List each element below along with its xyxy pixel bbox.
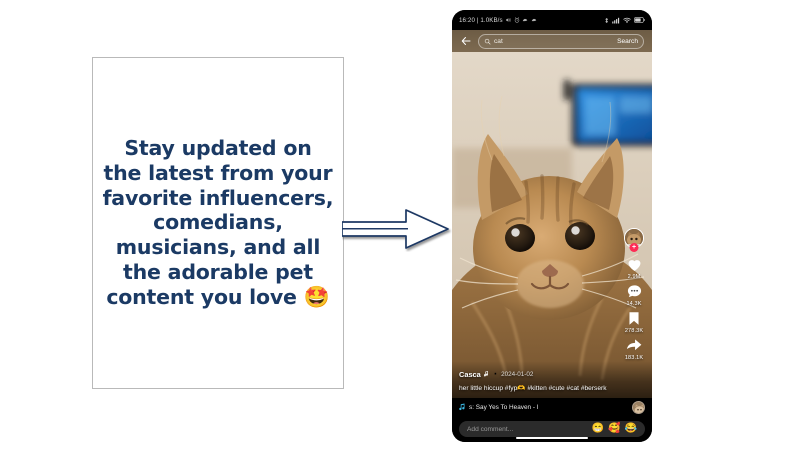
- action-rail: + 2.9M 14.3K: [619, 228, 649, 361]
- search-header: cat Search: [452, 30, 652, 52]
- music-badge-icon: [484, 370, 490, 378]
- search-query-text: cat: [494, 38, 614, 45]
- share-count: 183.1K: [625, 355, 643, 361]
- caption-separator: ·: [493, 365, 498, 383]
- like-action[interactable]: 2.9M: [626, 256, 643, 280]
- bookmark-icon[interactable]: [626, 310, 642, 327]
- status-time-and-speed: 16:20 | 1.0KB/s: [459, 17, 503, 24]
- bookmark-count: 278.3K: [625, 328, 643, 334]
- status-bar: 16:20 | 1.0KB/s: [452, 10, 652, 30]
- bookmark-action[interactable]: 278.3K: [625, 310, 643, 334]
- search-input[interactable]: cat Search: [478, 34, 644, 49]
- quick-emoji-hearts[interactable]: 🥰: [608, 424, 620, 434]
- comment-count: 14.3K: [626, 301, 641, 307]
- quick-emoji-grin[interactable]: 😁: [592, 424, 604, 434]
- promo-headline: Stay updated on the latest from your fav…: [99, 136, 338, 310]
- music-thumbnail[interactable]: [632, 401, 645, 414]
- search-submit-button[interactable]: Search: [617, 38, 638, 45]
- promo-text-card: Stay updated on the latest from your fav…: [92, 57, 344, 389]
- phone-mockup: 16:20 | 1.0KB/s: [452, 10, 652, 442]
- comment-action[interactable]: 14.3K: [626, 283, 643, 307]
- headline-line-1: Stay updated on: [124, 136, 311, 160]
- bluetooth-icon: [604, 17, 609, 24]
- share-action[interactable]: 183.1K: [625, 337, 643, 361]
- heart-icon[interactable]: [626, 256, 643, 273]
- mute-icon: [505, 17, 511, 23]
- follow-plus-badge[interactable]: +: [630, 243, 639, 252]
- music-title: s: Say Yes To Heaven - l: [469, 404, 629, 411]
- music-bar[interactable]: s: Say Yes To Heaven - l: [452, 398, 652, 416]
- back-arrow-icon[interactable]: [460, 35, 472, 47]
- share-arrow-icon[interactable]: [625, 337, 643, 354]
- headline-line-4: comedians,: [153, 210, 283, 234]
- wifi-icon: [623, 17, 631, 24]
- status-bar-left: 16:20 | 1.0KB/s: [459, 17, 537, 24]
- headline-line-6: the adorable pet: [123, 260, 313, 284]
- video-player[interactable]: + 2.9M 14.3K: [452, 52, 652, 398]
- caption-user-line: Casca · 2024-01-02: [459, 365, 616, 383]
- app-notification-icon: [522, 17, 528, 23]
- add-comment-input[interactable]: Add comment... 😁 🥰 😂: [459, 421, 645, 437]
- profile-action[interactable]: +: [624, 228, 644, 253]
- star-struck-emoji: 🤩: [304, 285, 330, 309]
- signal-bars-icon: [612, 17, 620, 24]
- like-count: 2.9M: [628, 274, 641, 280]
- avatar-with-follow[interactable]: +: [624, 228, 644, 252]
- caption-text[interactable]: her little hiccup #fyp🫶 #kitten #cute #c…: [459, 385, 616, 394]
- flow-arrow: [342, 206, 452, 252]
- search-icon: [484, 38, 491, 45]
- quick-emoji-joy[interactable]: 😂: [625, 424, 637, 434]
- author-username[interactable]: Casca: [459, 370, 481, 379]
- music-note-icon: [459, 403, 466, 411]
- headline-line-7: content you love: [106, 285, 296, 309]
- music-thumbnail-image: [633, 402, 645, 414]
- post-date: 2024-01-02: [501, 371, 533, 378]
- status-bar-right: [604, 17, 645, 24]
- headline-line-2: the latest from your: [104, 161, 333, 185]
- app-notification-icon: [531, 17, 537, 23]
- comment-icon[interactable]: [626, 283, 643, 300]
- battery-icon: [634, 17, 645, 23]
- headline-line-3: favorite influencers,: [103, 186, 334, 210]
- alarm-icon: [514, 17, 520, 23]
- caption-block: Casca · 2024-01-02 her little hiccup #fy…: [452, 361, 652, 398]
- add-comment-placeholder: Add comment...: [467, 426, 588, 433]
- headline-line-5: musicians, and all: [116, 235, 320, 259]
- screenshot-canvas: Stay updated on the latest from your fav…: [0, 0, 806, 453]
